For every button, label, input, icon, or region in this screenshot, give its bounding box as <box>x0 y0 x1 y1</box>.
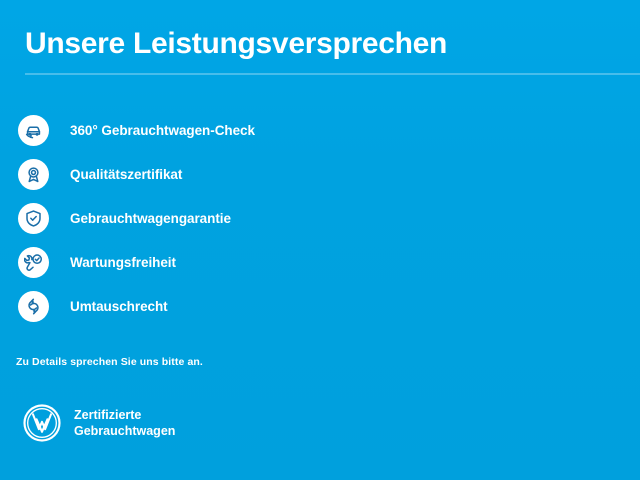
exchange-arrows-icon <box>18 291 49 322</box>
benefit-item-umtauschrecht[interactable]: Umtauschrecht <box>0 284 320 328</box>
benefit-item-inzahlungnahme[interactable]: Inzahlungnahme <box>320 196 640 240</box>
promo-slide: Unsere Leistungsversprechen 360° Gebrauc… <box>0 0 640 480</box>
benefit-item-mobilitaetsgarantie[interactable]: Mobilitätsgarantie <box>320 240 640 284</box>
brand-lockup: Zertifizierte Gebrauchtwagen <box>22 403 175 443</box>
title-divider <box>25 73 640 75</box>
benefit-label: Qualitätszertifikat <box>70 167 182 182</box>
benefit-item-versicherungsangebote[interactable]: Versicherungsangebote <box>320 152 640 196</box>
brand-text: Zertifizierte Gebrauchtwagen <box>74 407 175 439</box>
benefit-label: Wartungsfreiheit <box>70 255 176 270</box>
benefit-item-gebrauchtwagengarantie[interactable]: Gebrauchtwagengarantie <box>0 196 320 240</box>
benefit-label: Umtauschrecht <box>70 299 168 314</box>
benefit-label: 360° Gebrauchtwagen-Check <box>70 123 255 138</box>
benefit-item-ersatzmobilitaet[interactable]: Ersatzmobilität <box>320 284 640 328</box>
details-footnote: Zu Details sprechen Sie uns bitte an. <box>16 356 203 368</box>
brand-line-1: Zertifizierte <box>74 407 175 423</box>
benefits-grid: 360° Gebrauchtwagen-Check Qualitätszerti… <box>0 108 640 328</box>
shield-check-icon <box>18 203 49 234</box>
wrench-check-icon <box>18 247 49 278</box>
benefit-item-wartungsfreiheit[interactable]: Wartungsfreiheit <box>0 240 320 284</box>
benefit-item-qualitaetszertifikat[interactable]: Qualitätszertifikat <box>0 152 320 196</box>
award-rosette-icon <box>18 159 49 190</box>
volkswagen-logo <box>22 403 62 443</box>
page-title: Unsere Leistungsversprechen <box>25 27 447 60</box>
car-360-check-icon <box>18 115 49 146</box>
benefits-left-column: 360° Gebrauchtwagen-Check Qualitätszerti… <box>0 108 320 328</box>
benefit-item-finanzdienstleistungen[interactable]: Finanzdienstleistungen <box>320 108 640 152</box>
benefits-right-column: Finanzdienstleistungen Versicherungsange… <box>320 108 640 328</box>
benefit-item-gebrauchtwagen-check[interactable]: 360° Gebrauchtwagen-Check <box>0 108 320 152</box>
benefit-label: Gebrauchtwagengarantie <box>70 211 231 226</box>
brand-line-2: Gebrauchtwagen <box>74 423 175 439</box>
